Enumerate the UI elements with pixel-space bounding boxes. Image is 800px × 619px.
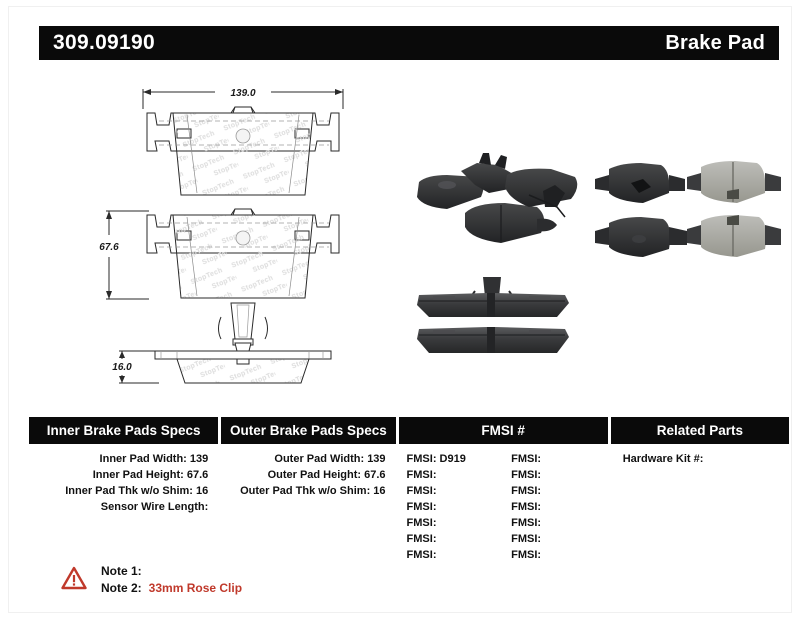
note-2-value: 33mm Rose Clip [149, 580, 242, 597]
notes-section: Note 1: Note 2: 33mm Rose Clip [61, 563, 242, 597]
table-header-row: Inner Brake Pads Specs Outer Brake Pads … [29, 417, 789, 444]
sensor-clip-detail [219, 303, 268, 345]
spec-row: Outer Pad Width: 139 [221, 451, 395, 467]
spec-row: Sensor Wire Length: [29, 499, 218, 515]
fmsi-sub-column-left: FMSI: D919 FMSI: FMSI: FMSI: FMSI: FMSI:… [399, 451, 504, 563]
fmsi-row: FMSI: [399, 467, 504, 483]
svg-text:139.0: 139.0 [230, 88, 255, 99]
fmsi-sub-column-right: FMSI: FMSI: FMSI: FMSI: FMSI: FMSI: FMSI… [503, 451, 608, 563]
note-2-row: Note 2: 33mm Rose Clip [101, 580, 242, 597]
fmsi-row: FMSI: [503, 483, 608, 499]
spec-row: Inner Pad Height: 67.6 [29, 467, 218, 483]
fmsi-row: FMSI: [399, 499, 504, 515]
svg-text:16.0: 16.0 [112, 362, 132, 373]
spec-row: Outer Pad Thk w/o Shim: 16 [221, 483, 395, 499]
page-frame: 309.09190 Brake Pad StopTech StopTech [8, 6, 792, 613]
note-1-row: Note 1: [101, 563, 242, 580]
related-parts-column: Hardware Kit #: [611, 451, 789, 563]
svg-text:67.6: 67.6 [99, 242, 119, 253]
warning-triangle-icon [61, 566, 87, 590]
fmsi-row: FMSI: [399, 547, 504, 563]
fmsi-row: FMSI: D919 [399, 451, 504, 467]
brake-pad-profile-photo [417, 277, 569, 353]
table-header-related-parts: Related Parts [611, 417, 789, 444]
fmsi-row: FMSI: [503, 547, 608, 563]
note-1-label: Note 1: [101, 563, 142, 580]
part-number: 309.09190 [53, 31, 155, 55]
spec-row: Inner Pad Width: 139 [29, 451, 218, 467]
fmsi-row: FMSI: [503, 515, 608, 531]
note-2-label: Note 2: [101, 580, 142, 597]
fmsi-column: FMSI: D919 FMSI: FMSI: FMSI: FMSI: FMSI:… [399, 451, 608, 563]
fmsi-row: FMSI: [399, 515, 504, 531]
inner-specs-column: Inner Pad Width: 139 Inner Pad Height: 6… [29, 451, 218, 563]
table-body: Inner Pad Width: 139 Inner Pad Height: 6… [29, 444, 789, 563]
pad-height-view-drawing: 67.6 [99, 209, 339, 345]
table-header-outer-specs: Outer Brake Pads Specs [221, 417, 395, 444]
product-category: Brake Pad [665, 32, 765, 55]
spec-row: Outer Pad Height: 67.6 [221, 467, 395, 483]
pad-front-view-drawing: 139.0 [143, 88, 343, 195]
fmsi-row: FMSI: [503, 499, 608, 515]
fmsi-row: FMSI: [503, 531, 608, 547]
pad-thickness-view-drawing: 16.0 [112, 343, 331, 383]
brake-pad-kit-photo [417, 153, 577, 243]
fmsi-row: FMSI: [503, 451, 608, 467]
table-header-fmsi: FMSI # [399, 417, 608, 444]
header-bar: 309.09190 Brake Pad [39, 26, 779, 60]
fmsi-row: FMSI: [399, 483, 504, 499]
specs-table: Inner Brake Pads Specs Outer Brake Pads … [29, 417, 789, 563]
table-header-inner-specs: Inner Brake Pads Specs [29, 417, 218, 444]
fmsi-row: FMSI: [399, 531, 504, 547]
outer-specs-column: Outer Pad Width: 139 Outer Pad Height: 6… [221, 451, 395, 563]
fmsi-row: FMSI: [503, 467, 608, 483]
drawing-area: StopTech StopTech [9, 67, 800, 397]
hardware-kit-row: Hardware Kit #: [611, 451, 789, 467]
brake-pad-set-photo [595, 161, 781, 257]
spec-row: Inner Pad Thk w/o Shim: 16 [29, 483, 218, 499]
note-lines: Note 1: Note 2: 33mm Rose Clip [101, 563, 242, 597]
